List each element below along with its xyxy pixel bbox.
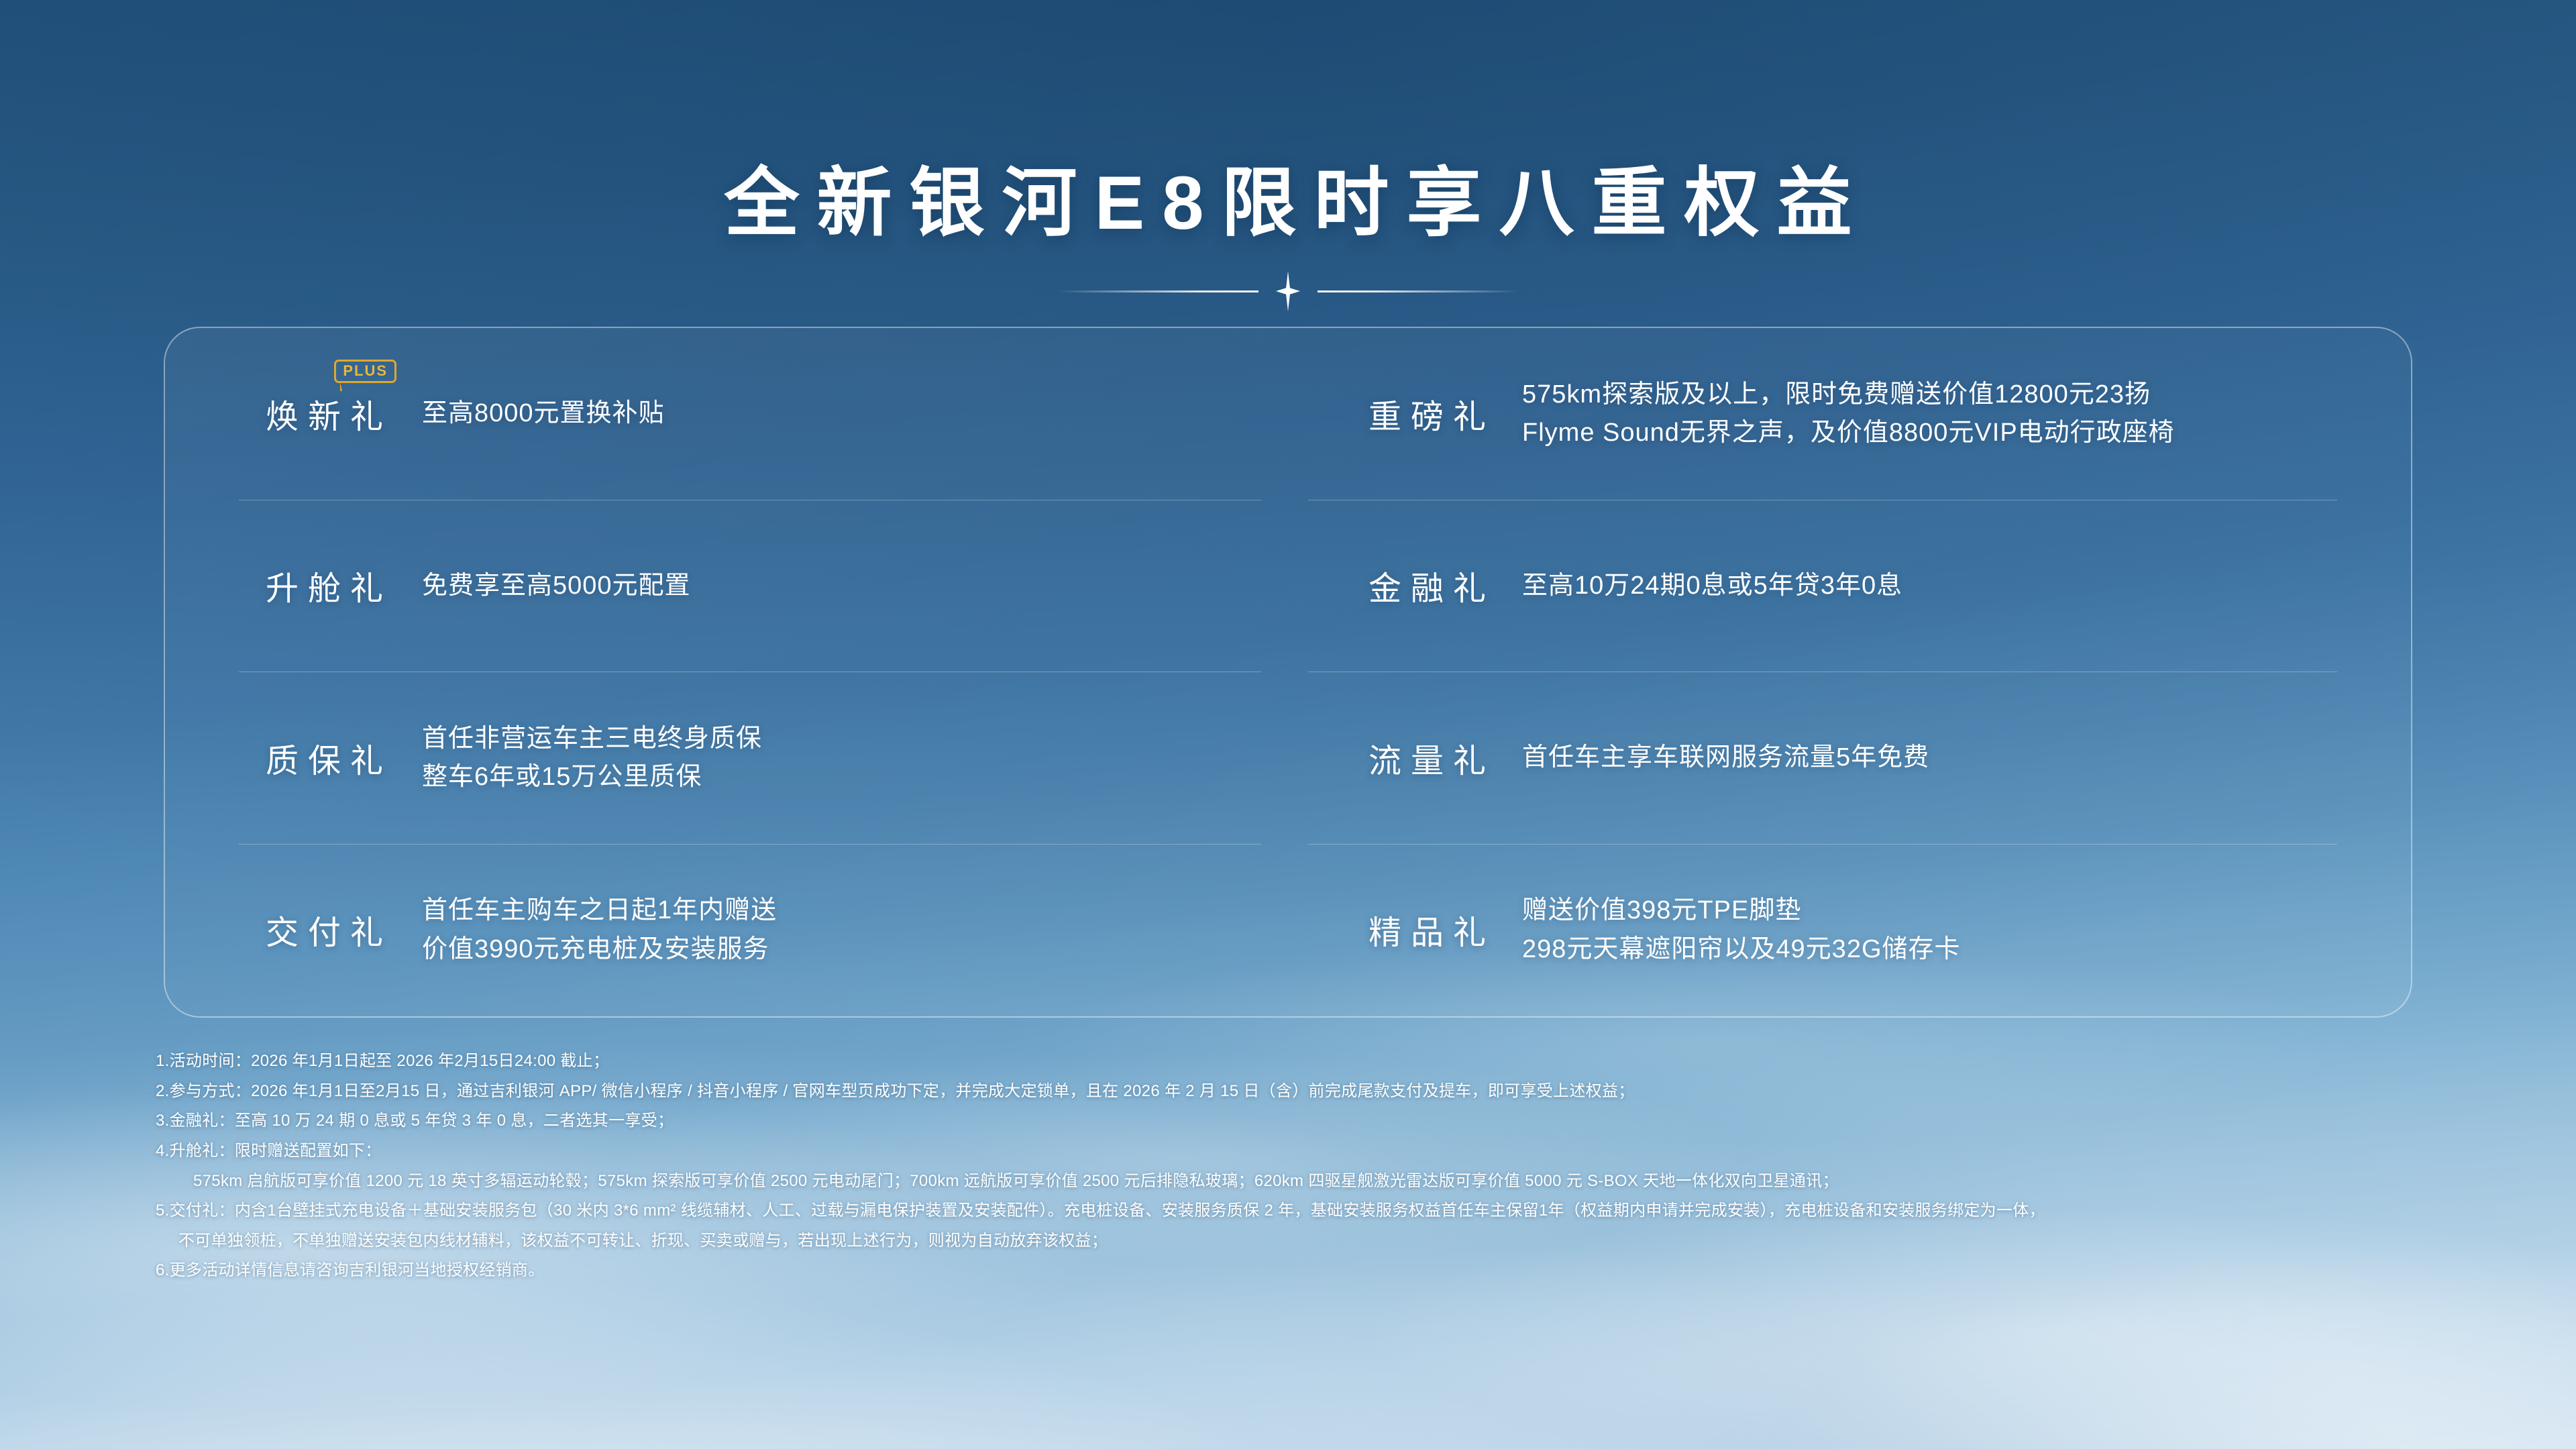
benefits-card: 焕新礼 PLUS 至高8000元置换补贴 重磅礼 575km探索版及以上，限时免… bbox=[164, 327, 2412, 1018]
benefit-title: 流量礼 bbox=[1368, 735, 1495, 782]
terms-line: 不可单独领桩，不单独赠送安装包内线材辅料，该权益不可转让、折现、买卖或赠与，若出… bbox=[156, 1226, 2450, 1256]
benefit-title-text: 焕新礼 bbox=[266, 399, 392, 435]
benefit-item-jiaofu: 交付礼 首任车主购车之日起1年内赠送 价值3990元充电桩及安装服务 bbox=[165, 845, 1288, 1017]
benefit-item-jingpin: 精品礼 赠送价值398元TPE脚垫 298元天幕遮阳帘以及49元32G储存卡 bbox=[1288, 845, 2411, 1017]
terms-line: 3.金融礼：至高 10 万 24 期 0 息或 5 年贷 3 年 0 息，二者选… bbox=[156, 1106, 2450, 1136]
benefit-title: 焕新礼 PLUS bbox=[266, 390, 392, 438]
benefit-desc: 赠送价值398元TPE脚垫 298元天幕遮阳帘以及49元32G储存卡 bbox=[1522, 892, 1961, 969]
divider-line-left bbox=[1057, 290, 1258, 292]
benefit-desc: 首任车主享车联网服务流量5年免费 bbox=[1522, 739, 1929, 777]
benefit-title: 升舱礼 bbox=[266, 562, 392, 610]
page-title: 全新银河E8限时享八重权益 bbox=[0, 142, 2576, 251]
terms-and-conditions: 1.活动时间：2026 年1月1日起至 2026 年2月15日24:00 截止；… bbox=[156, 1046, 2450, 1286]
benefit-title: 金融礼 bbox=[1368, 562, 1495, 610]
plus-badge: PLUS bbox=[334, 360, 396, 383]
benefit-title: 质保礼 bbox=[266, 735, 392, 782]
terms-line: 4.升舱礼：限时赠送配置如下： bbox=[156, 1136, 2450, 1167]
terms-line: 1.活动时间：2026 年1月1日起至 2026 年2月15日24:00 截止； bbox=[156, 1046, 2450, 1077]
terms-line: 6.更多活动详情信息请咨询吉利银河当地授权经销商。 bbox=[156, 1256, 2450, 1286]
benefit-desc: 至高10万24期0息或5年贷3年0息 bbox=[1522, 567, 1902, 606]
divider-line-right bbox=[1318, 290, 1519, 292]
benefit-title: 交付礼 bbox=[266, 906, 392, 954]
benefits-grid: 焕新礼 PLUS 至高8000元置换补贴 重磅礼 575km探索版及以上，限时免… bbox=[165, 328, 2411, 1016]
sparkle-icon bbox=[1276, 271, 1300, 311]
benefit-item-jinrong: 金融礼 至高10万24期0息或5年贷3年0息 bbox=[1288, 500, 2411, 673]
benefit-desc: 首任车主购车之日起1年内赠送 价值3990元充电桩及安装服务 bbox=[422, 892, 777, 969]
benefit-item-zhibao: 质保礼 首任非营运车主三电终身质保 整车6年或15万公里质保 bbox=[165, 672, 1288, 845]
terms-line: 575km 启航版可享价值 1200 元 18 英寸多辐运动轮毂；575km 探… bbox=[156, 1167, 2450, 1197]
benefit-item-huanxin: 焕新礼 PLUS 至高8000元置换补贴 bbox=[165, 328, 1288, 500]
benefit-item-shengcang: 升舱礼 免费享至高5000元配置 bbox=[165, 500, 1288, 673]
benefit-title: 重磅礼 bbox=[1368, 390, 1495, 438]
terms-line: 5.交付礼：内含1台壁挂式充电设备＋基础安装服务包（30 米内 3*6 mm² … bbox=[156, 1196, 2450, 1226]
benefit-desc: 首任非营运车主三电终身质保 整车6年或15万公里质保 bbox=[422, 720, 762, 798]
benefit-desc: 免费享至高5000元配置 bbox=[422, 567, 691, 606]
benefit-desc: 575km探索版及以上，限时免费赠送价值12800元23扬 Flyme Soun… bbox=[1522, 376, 2175, 453]
benefit-title: 精品礼 bbox=[1368, 906, 1495, 954]
benefit-item-liuliang: 流量礼 首任车主享车联网服务流量5年免费 bbox=[1288, 672, 2411, 845]
benefit-item-zhongbang: 重磅礼 575km探索版及以上，限时免费赠送价值12800元23扬 Flyme … bbox=[1288, 328, 2411, 500]
title-divider bbox=[1040, 271, 1536, 311]
benefit-desc: 至高8000元置换补贴 bbox=[422, 394, 665, 433]
terms-line: 2.参与方式：2026 年1月1日至2月15 日，通过吉利银河 APP/ 微信小… bbox=[156, 1077, 2450, 1107]
